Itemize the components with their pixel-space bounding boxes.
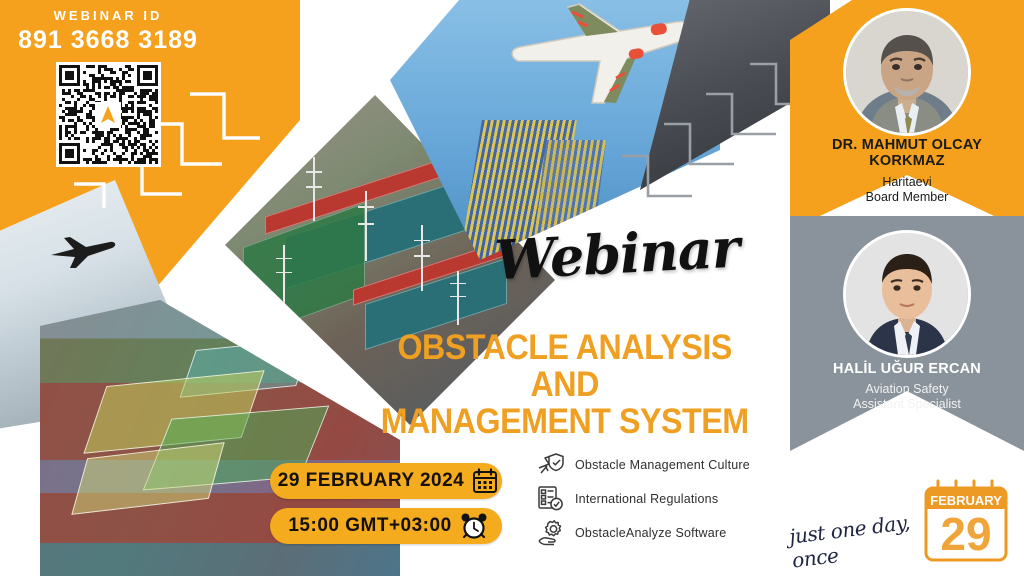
webinar-id-number: 891 3668 3189 bbox=[18, 26, 198, 55]
title-line-2: MANAGEMENT SYSTEM bbox=[360, 404, 769, 441]
speaker-role: Board Member bbox=[790, 190, 1024, 205]
speaker-name-line2: KORKMAZ bbox=[869, 153, 945, 169]
webinar-id-block: WEBINAR ID 891 3668 3189 bbox=[18, 8, 198, 167]
topic-label: International Regulations bbox=[575, 492, 718, 506]
hand-gear-icon bbox=[536, 519, 566, 547]
speaker-portrait-icon bbox=[846, 11, 968, 133]
speaker-role: Assistant Specialist bbox=[790, 397, 1024, 412]
webinar-id-label: WEBINAR ID bbox=[18, 8, 198, 23]
calendar-day-label: 29 bbox=[940, 508, 991, 560]
webinar-poster: WEBINAR ID 891 3668 3189 bbox=[0, 0, 1024, 576]
checklist-check-icon bbox=[536, 485, 566, 513]
obstacle-surface-overlay bbox=[71, 442, 224, 515]
qr-center-logo bbox=[95, 102, 121, 128]
calendar-icon bbox=[472, 468, 498, 494]
speaker-organization: Haritaevi bbox=[790, 175, 1024, 190]
list-item: ObstacleAnalyze Software bbox=[536, 516, 786, 550]
airplane-silhouette-icon bbox=[48, 235, 118, 269]
speaker-name: HALİL UĞUR ERCAN bbox=[790, 362, 1024, 378]
list-item: International Regulations bbox=[536, 482, 786, 516]
page-title: OBSTACLE ANALYSIS AND MANAGEMENT SYSTEM bbox=[360, 330, 769, 440]
speaker-name-line1: DR. MAHMUT OLCAY bbox=[832, 137, 982, 153]
list-item: Obstacle Management Culture bbox=[536, 448, 786, 482]
transmission-pylon bbox=[421, 225, 423, 291]
transmission-pylon bbox=[313, 157, 315, 221]
avatar bbox=[843, 230, 971, 358]
location-arrow-icon bbox=[98, 105, 118, 125]
calendar-february-29-icon: FEBRUARY 29 bbox=[920, 478, 1012, 566]
speaker-card-1: DR. MAHMUT OLCAY KORKMAZ Haritaevi Board… bbox=[790, 0, 1024, 230]
script-webinar-word: Webinar bbox=[493, 216, 737, 308]
plane-shield-icon bbox=[536, 451, 566, 479]
time-badge[interactable]: 15:00 GMT+03:00 bbox=[270, 508, 502, 544]
avatar bbox=[843, 8, 971, 136]
speaker-portrait-icon bbox=[846, 233, 968, 355]
topic-label: ObstacleAnalyze Software bbox=[575, 526, 726, 540]
speaker-name: DR. MAHMUT OLCAY KORKMAZ bbox=[790, 138, 1024, 169]
terrain-slab bbox=[243, 203, 365, 339]
calendar-month-label: FEBRUARY bbox=[930, 493, 1002, 508]
speaker-organization: Aviation Safety bbox=[790, 382, 1024, 397]
transmission-pylon bbox=[457, 271, 459, 325]
corner-bracket-icon bbox=[590, 60, 800, 220]
transmission-pylon bbox=[283, 245, 285, 303]
speaker-card-2: HALİL UĞUR ERCAN Aviation Safety Assista… bbox=[790, 216, 1024, 451]
alarm-clock-icon bbox=[460, 512, 488, 540]
date-badge[interactable]: 29 FEBRUARY 2024 bbox=[270, 463, 502, 499]
qr-code-icon[interactable] bbox=[56, 62, 161, 167]
title-line-1: OBSTACLE ANALYSIS AND bbox=[360, 330, 769, 404]
time-text: 15:00 GMT+03:00 bbox=[284, 515, 451, 537]
date-text: 29 FEBRUARY 2024 bbox=[274, 470, 464, 492]
transmission-pylon bbox=[365, 191, 367, 261]
topic-list: Obstacle Management Culture Internationa… bbox=[536, 448, 786, 550]
topic-label: Obstacle Management Culture bbox=[575, 458, 750, 472]
